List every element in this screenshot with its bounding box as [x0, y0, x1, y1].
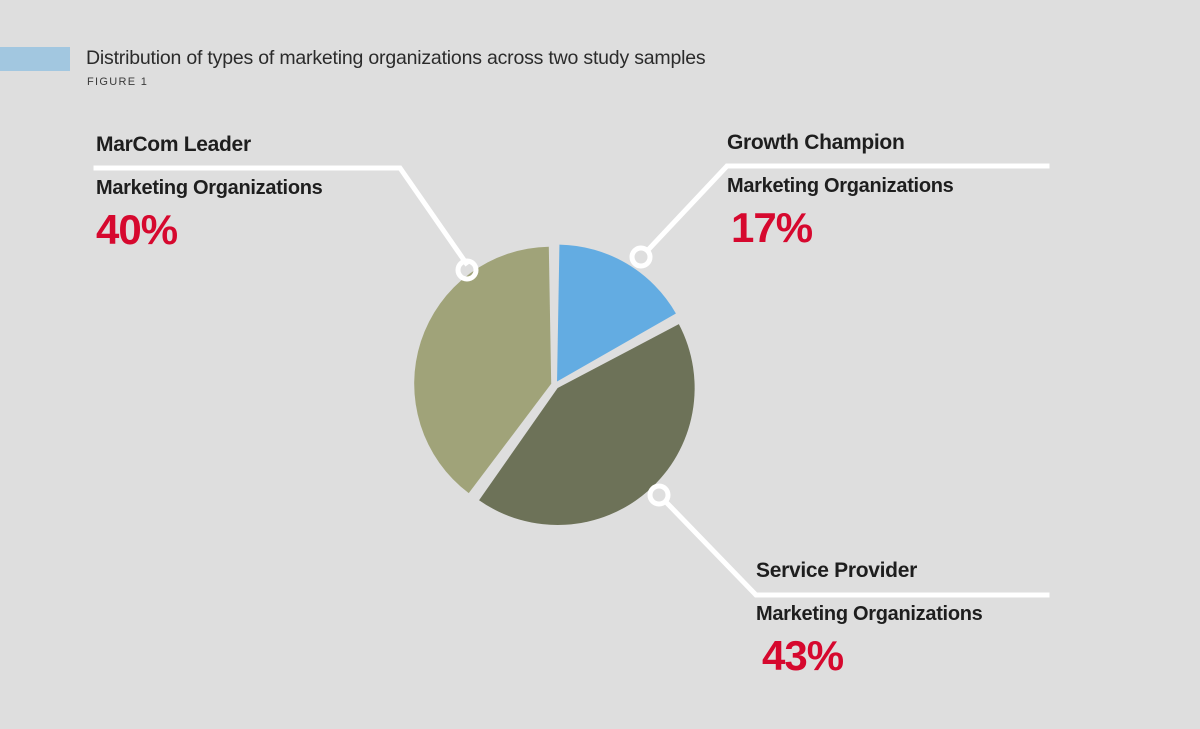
- callout-marcom-title: MarCom Leader: [96, 133, 400, 156]
- callout-marcom-leader: MarCom Leader Marketing Organizations 40…: [96, 133, 400, 252]
- leader-marker-service: [650, 486, 668, 504]
- callout-growth-subtitle: Marketing Organizations: [727, 175, 1045, 197]
- callout-growth-champion: Growth Champion Marketing Organizations …: [727, 131, 1045, 250]
- figure-root: Distribution of types of marketing organ…: [0, 0, 1200, 729]
- callout-marcom-subtitle: Marketing Organizations: [96, 177, 400, 199]
- callout-service-title: Service Provider: [756, 559, 1046, 582]
- callout-service-provider: Service Provider Marketing Organizations…: [756, 559, 1046, 678]
- callout-growth-title: Growth Champion: [727, 131, 1045, 154]
- leader-marker-growth: [632, 248, 650, 266]
- callout-service-value: 43%: [762, 634, 1046, 678]
- callout-marcom-value: 40%: [96, 208, 400, 252]
- callout-growth-value: 17%: [731, 206, 1045, 250]
- callout-service-subtitle: Marketing Organizations: [756, 603, 1046, 625]
